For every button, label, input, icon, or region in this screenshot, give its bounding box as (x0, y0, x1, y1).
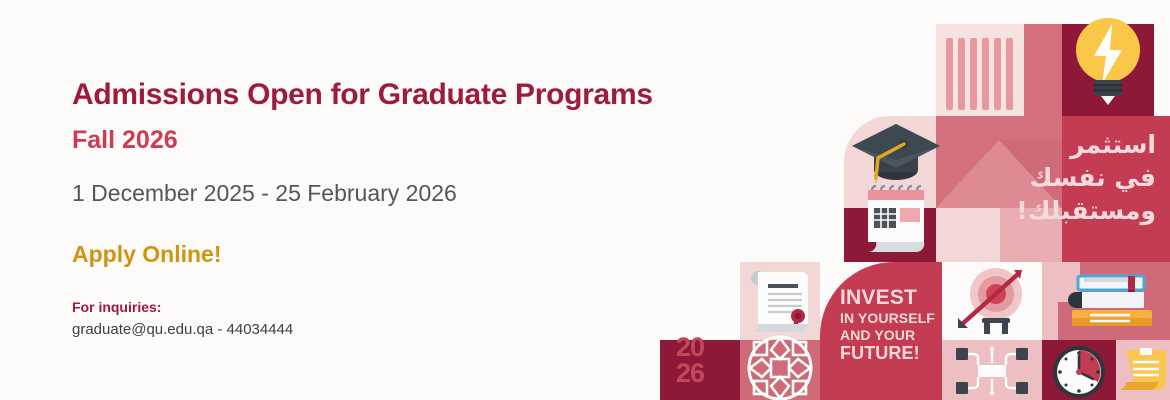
geometric-rosette-icon (746, 334, 814, 400)
tile-rose-top (1024, 24, 1062, 116)
network-diagram-icon (956, 348, 1028, 394)
year-top: 20 (676, 334, 704, 360)
clipboard-icon (1124, 348, 1168, 394)
certificate-icon (746, 266, 816, 338)
books-stack-icon (1068, 272, 1160, 334)
lightbulb-icon (1068, 6, 1148, 110)
year-bottom: 26 (676, 360, 704, 386)
date-range: 1 December 2025 - 25 February 2026 (72, 181, 692, 206)
calendar-icon (862, 182, 928, 260)
arabic-line-2: في نفسك (1006, 161, 1156, 194)
invest-line-3: AND YOUR (840, 327, 940, 343)
clock-icon (1050, 344, 1108, 400)
invest-line-4: FUTURE! (840, 343, 940, 364)
arabic-line-1: استثمر (1006, 128, 1156, 161)
text-column: Admissions Open for Graduate Programs Fa… (72, 78, 692, 339)
decorative-mosaic: INVEST IN YOURSELF AND YOUR FUTURE! (650, 0, 1170, 400)
year-tile-text: 20 26 (676, 334, 704, 386)
admissions-banner: Admissions Open for Graduate Programs Fa… (0, 0, 1170, 400)
tile-blush-3 (936, 208, 1000, 262)
arabic-line-3: ومستقبلك! (1006, 194, 1156, 227)
inquiries-label: For inquiries: (72, 299, 692, 316)
arabic-slogan: استثمر في نفسك ومستقبلك! (1006, 128, 1156, 227)
invest-slogan: INVEST IN YOURSELF AND YOUR FUTURE! (840, 286, 940, 364)
invest-line-2: IN YOURSELF (840, 310, 940, 326)
book-spines-icon (938, 32, 1022, 116)
apply-online-cta[interactable]: Apply Online! (72, 242, 692, 267)
page-title: Admissions Open for Graduate Programs (72, 78, 692, 111)
term-label: Fall 2026 (72, 127, 692, 155)
inquiries-contact[interactable]: graduate@qu.edu.qa - 44034444 (72, 321, 692, 339)
invest-line-1: INVEST (840, 286, 940, 310)
target-arrow-icon (952, 266, 1034, 338)
